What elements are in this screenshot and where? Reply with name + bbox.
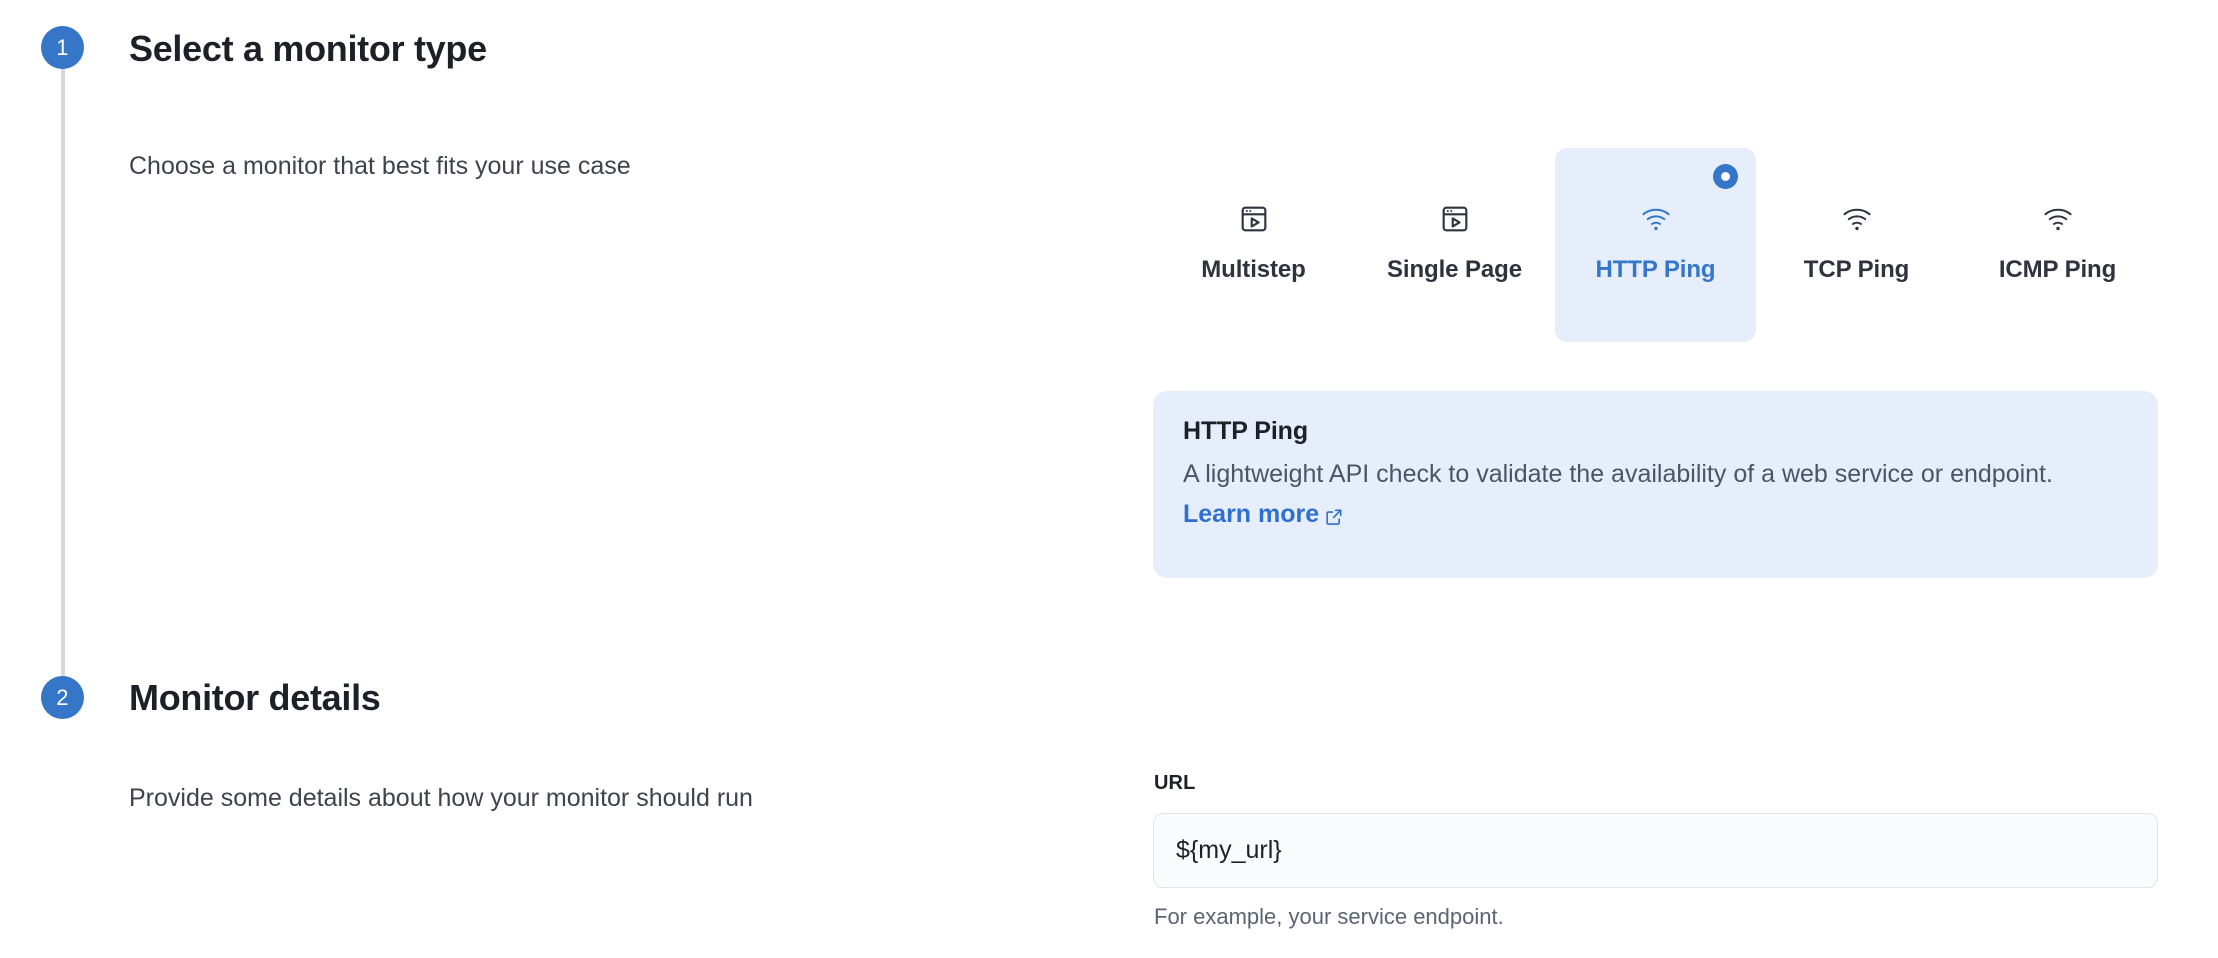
monitor-type-label: TCP Ping bbox=[1804, 256, 1909, 284]
monitor-type-option-tcp-ping[interactable]: TCP Ping bbox=[1756, 148, 1957, 342]
step-2-subtitle: Provide some details about how your moni… bbox=[129, 784, 753, 813]
info-callout-body: A lightweight API check to validate the … bbox=[1183, 454, 2123, 536]
monitor-setup-page: 1 2 Select a monitor type Choose a monit… bbox=[0, 0, 2218, 958]
external-link-icon[interactable] bbox=[1324, 496, 1344, 536]
step-badge-2: 2 bbox=[41, 676, 84, 719]
monitor-type-option-icmp-ping[interactable]: ICMP Ping bbox=[1957, 148, 2158, 342]
step-badge-1: 1 bbox=[41, 26, 84, 69]
step-1-title: Select a monitor type bbox=[129, 28, 487, 70]
browser-play-icon bbox=[1438, 202, 1472, 236]
browser-play-icon bbox=[1237, 202, 1271, 236]
url-field-label: URL bbox=[1154, 772, 1195, 795]
wifi-ping-icon bbox=[2041, 202, 2075, 236]
monitor-type-label: Single Page bbox=[1387, 256, 1522, 284]
step-number-2: 2 bbox=[56, 687, 68, 709]
wifi-ping-icon bbox=[1840, 202, 1874, 236]
info-callout-title: HTTP Ping bbox=[1183, 417, 2126, 446]
monitor-type-option-http-ping[interactable]: HTTP Ping bbox=[1555, 148, 1756, 342]
monitor-type-label: ICMP Ping bbox=[1999, 256, 2116, 284]
radio-selected-icon[interactable] bbox=[1713, 164, 1738, 189]
info-callout-description: A lightweight API check to validate the … bbox=[1183, 460, 2053, 488]
monitor-type-label: Multistep bbox=[1201, 256, 1305, 284]
url-input[interactable] bbox=[1153, 813, 2158, 888]
step-2-title: Monitor details bbox=[129, 677, 381, 719]
step-number-1: 1 bbox=[56, 37, 68, 59]
step-1-subtitle: Choose a monitor that best fits your use… bbox=[129, 152, 631, 181]
learn-more-link[interactable]: Learn more bbox=[1183, 500, 1319, 528]
monitor-type-option-multistep[interactable]: Multistep bbox=[1153, 148, 1354, 342]
monitor-type-label: HTTP Ping bbox=[1596, 256, 1716, 284]
monitor-type-selector: Multistep Single Page bbox=[1153, 148, 2158, 342]
stepper-connector-line bbox=[61, 47, 65, 697]
monitor-type-info-callout: HTTP Ping A lightweight API check to val… bbox=[1153, 391, 2158, 578]
wifi-ping-icon bbox=[1639, 202, 1673, 236]
url-field-help-text: For example, your service endpoint. bbox=[1154, 904, 1504, 930]
monitor-type-option-single-page[interactable]: Single Page bbox=[1354, 148, 1555, 342]
